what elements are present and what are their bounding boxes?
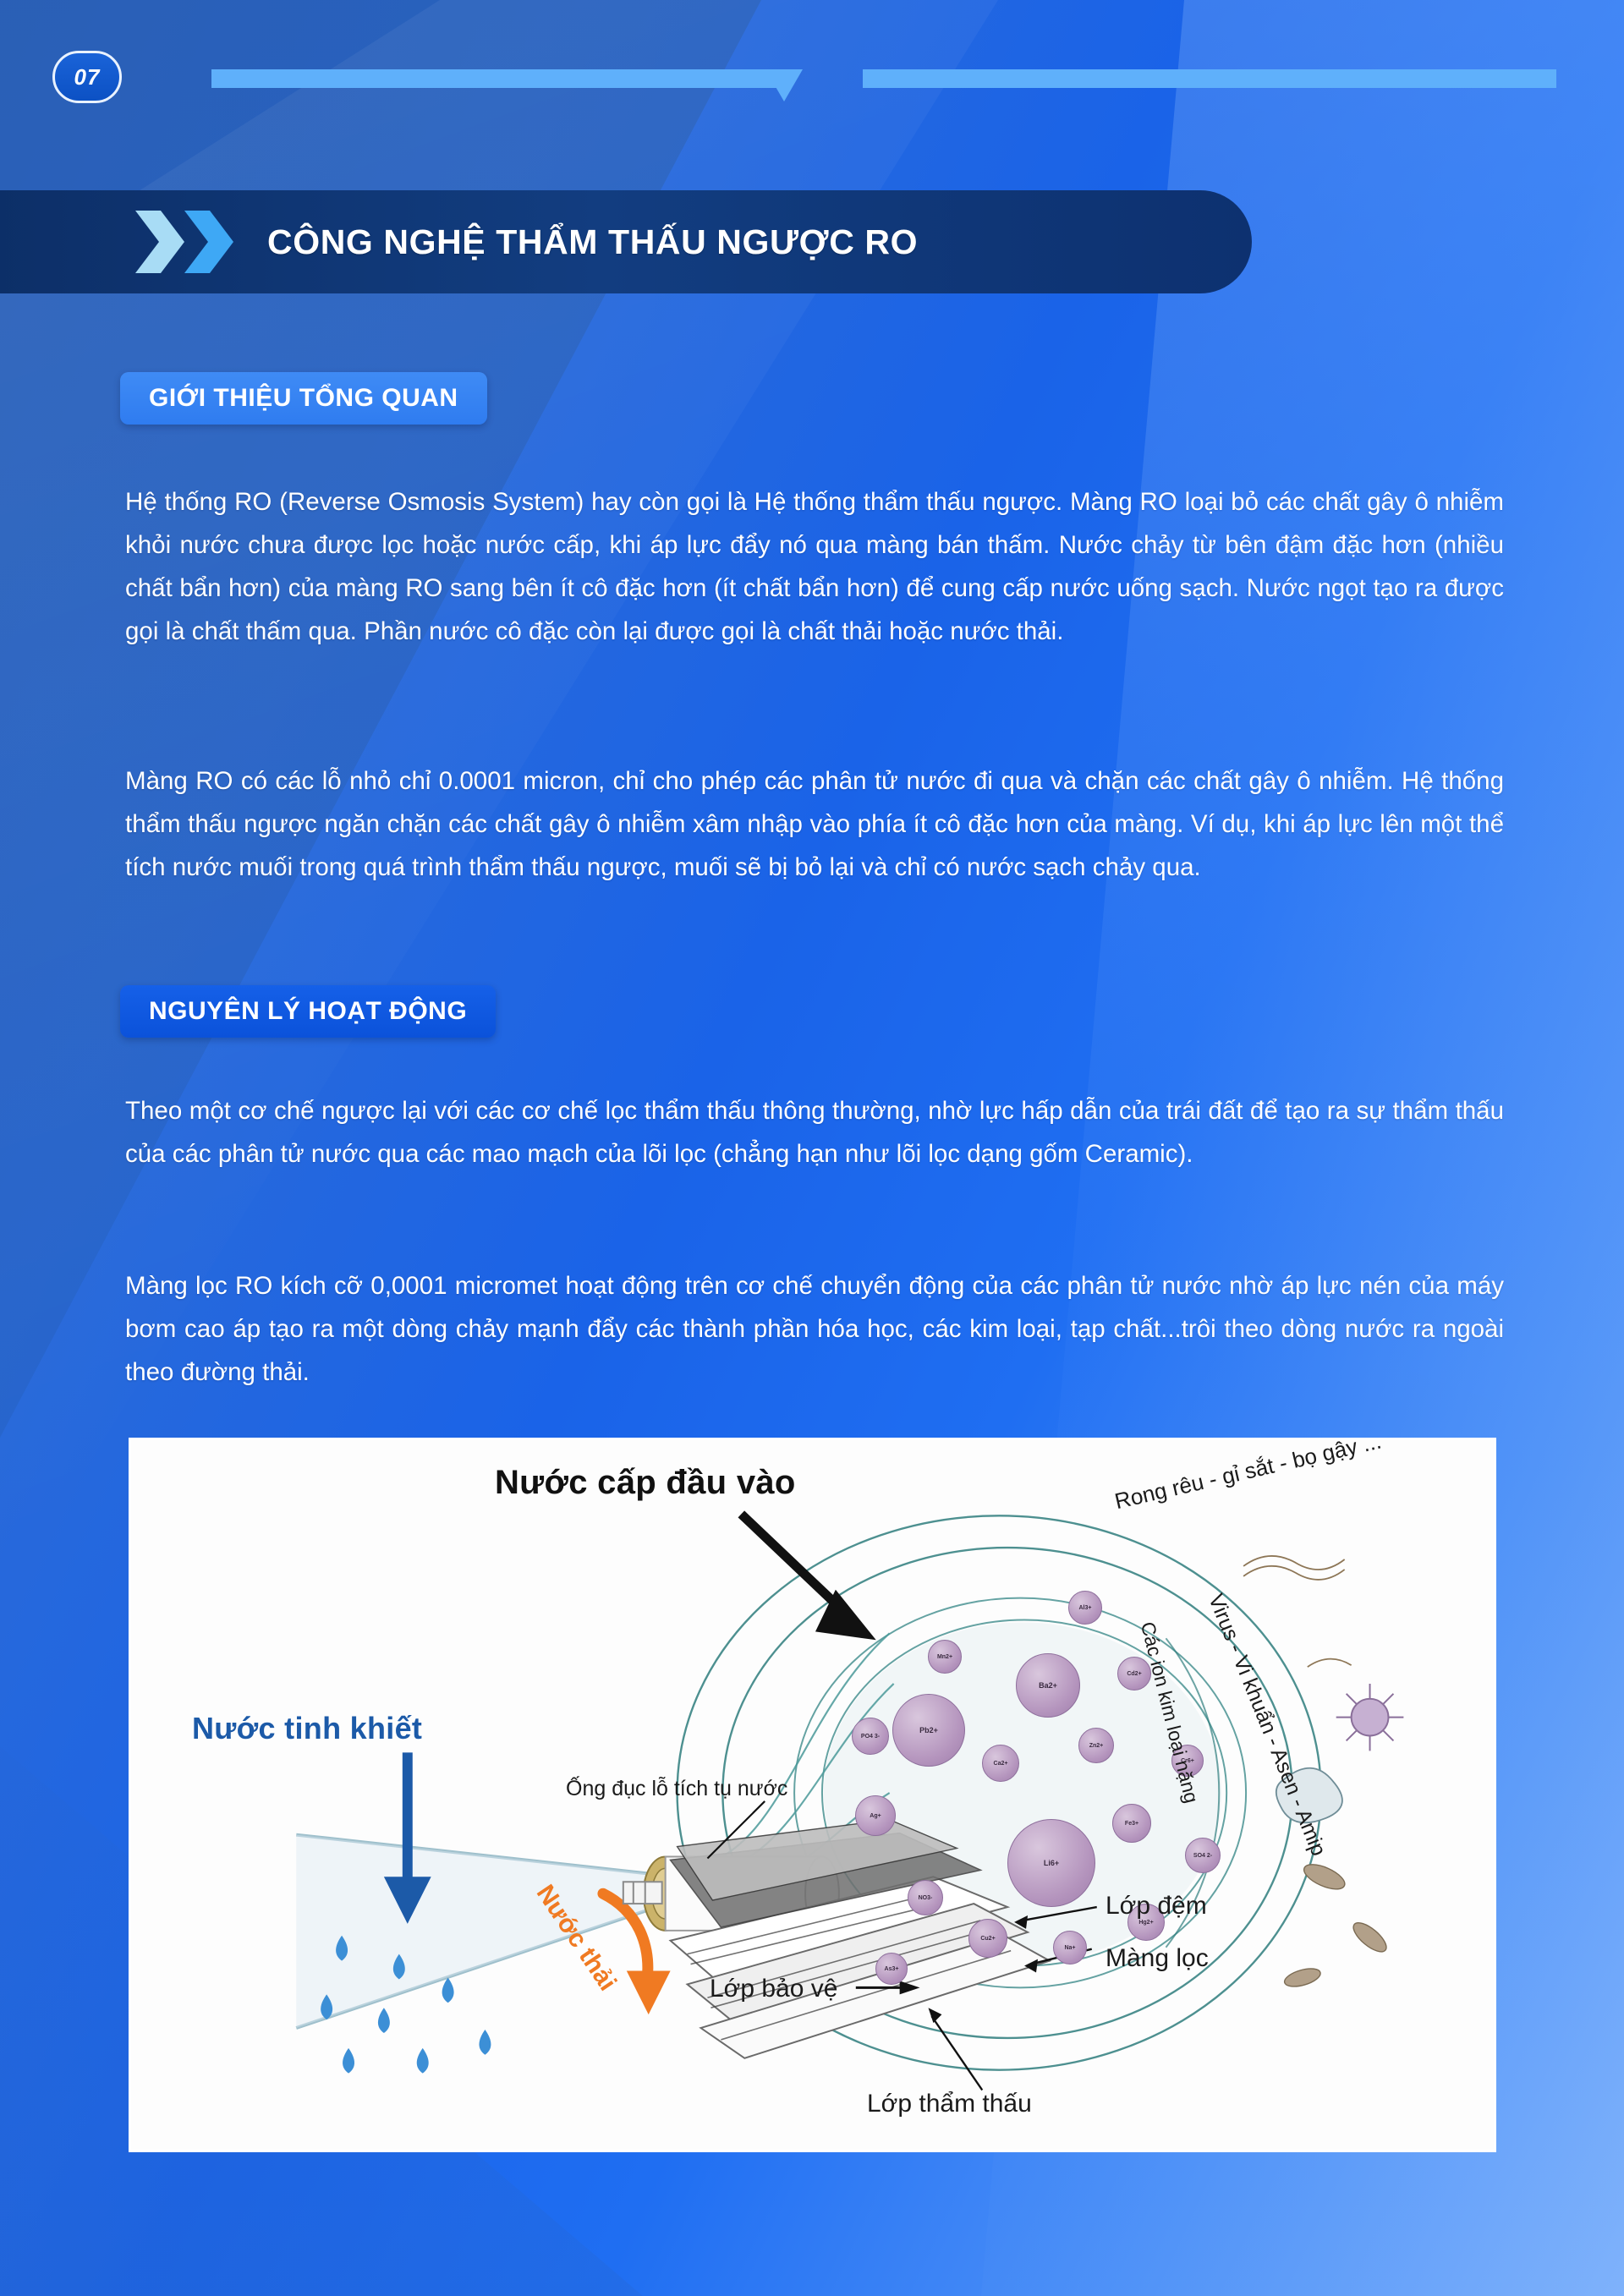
ion-bubble: NO3-	[908, 1880, 943, 1915]
ion-bubble: As3+	[875, 1953, 908, 1985]
page-number-badge: 07	[52, 51, 122, 103]
paragraph-nguyen-ly-1: Theo một cơ chế ngược lại với các cơ chế…	[125, 1089, 1504, 1175]
contaminant-bacteria	[1282, 1860, 1391, 1990]
page-title-banner: CÔNG NGHỆ THẨM THẤU NGƯỢC RO	[0, 190, 1252, 293]
diagram-label-pure-water: Nước tinh khiết	[192, 1711, 422, 1746]
feed-water-arrow	[741, 1514, 875, 1640]
ion-bubble: Mn2+	[928, 1640, 962, 1674]
chevron-right-icon-light	[135, 211, 184, 273]
paragraph-nguyen-ly-2: Màng lọc RO kích cỡ 0,0001 micromet hoạt…	[125, 1264, 1504, 1394]
ion-bubble: PO4 3-	[852, 1718, 889, 1755]
contaminant-organisms	[1243, 1556, 1352, 1667]
ion-bubble: Fe3+	[1112, 1804, 1151, 1843]
ion-bubble: Cu2+	[968, 1919, 1007, 1958]
header-rule-right-segment	[863, 69, 1556, 88]
ion-bubble: Ca2+	[982, 1745, 1019, 1782]
ro-membrane-diagram-figure: Pb2+ Ba2+ Li6+ Ag+ PO4 3- Mn2+ Ca2+ Zn2+…	[129, 1438, 1496, 2152]
ion-bubble: Ag+	[855, 1795, 896, 1836]
ion-bubble: Zn2+	[1078, 1728, 1114, 1763]
header-rule-left-segment	[211, 69, 778, 88]
section-heading-label: GIỚI THIỆU TỔNG QUAN	[149, 384, 458, 413]
section-heading-gioi-thieu: GIỚI THIỆU TỔNG QUAN	[120, 372, 487, 425]
paragraph-gioi-thieu-1: Hệ thống RO (Reverse Osmosis System) hay…	[125, 480, 1504, 653]
waste-water-arrowhead	[627, 1971, 671, 2015]
paragraph-gioi-thieu-2: Màng RO có các lỗ nhỏ chỉ 0.0001 micron,…	[125, 759, 1504, 889]
section-heading-label: NGUYÊN LÝ HOẠT ĐỘNG	[149, 997, 467, 1026]
header-rule	[0, 69, 1624, 88]
chevron-right-icon-bright	[184, 211, 233, 273]
diagram-label-membrane: Màng lọc	[1106, 1944, 1209, 1973]
header-rule-notch-icon	[765, 69, 803, 101]
ro-membrane-diagram: Pb2+ Ba2+ Li6+ Ag+ PO4 3- Mn2+ Ca2+ Zn2+…	[131, 1440, 1494, 2150]
contaminant-virus	[1336, 1684, 1404, 1751]
diagram-label-spacer-layer: Lớp đệm	[1106, 1892, 1207, 1921]
ion-bubble: SO4 2-	[1185, 1838, 1221, 1873]
ion-bubble: Al3+	[1068, 1591, 1102, 1625]
diagram-label-permeate-layer: Lớp thẩm thấu	[867, 2090, 1032, 2118]
chevron-group	[135, 211, 233, 273]
diagram-label-feed-water: Nước cấp đầu vào	[495, 1464, 796, 1502]
diagram-label-collection-tube: Ống đục lỗ tích tụ nước	[566, 1777, 787, 1801]
ion-bubble: Li6+	[1007, 1819, 1095, 1907]
diagram-label-protective-layer: Lớp bảo vệ	[710, 1975, 837, 2003]
ion-bubble: Na+	[1053, 1931, 1087, 1964]
section-heading-nguyen-ly: NGUYÊN LÝ HOẠT ĐỘNG	[120, 985, 496, 1038]
page-number-value: 07	[74, 64, 101, 90]
ion-bubble: Ba2+	[1016, 1653, 1080, 1718]
page-title: CÔNG NGHỆ THẨM THẤU NGƯỢC RO	[267, 222, 918, 262]
ion-bubble: Pb2+	[892, 1694, 965, 1767]
